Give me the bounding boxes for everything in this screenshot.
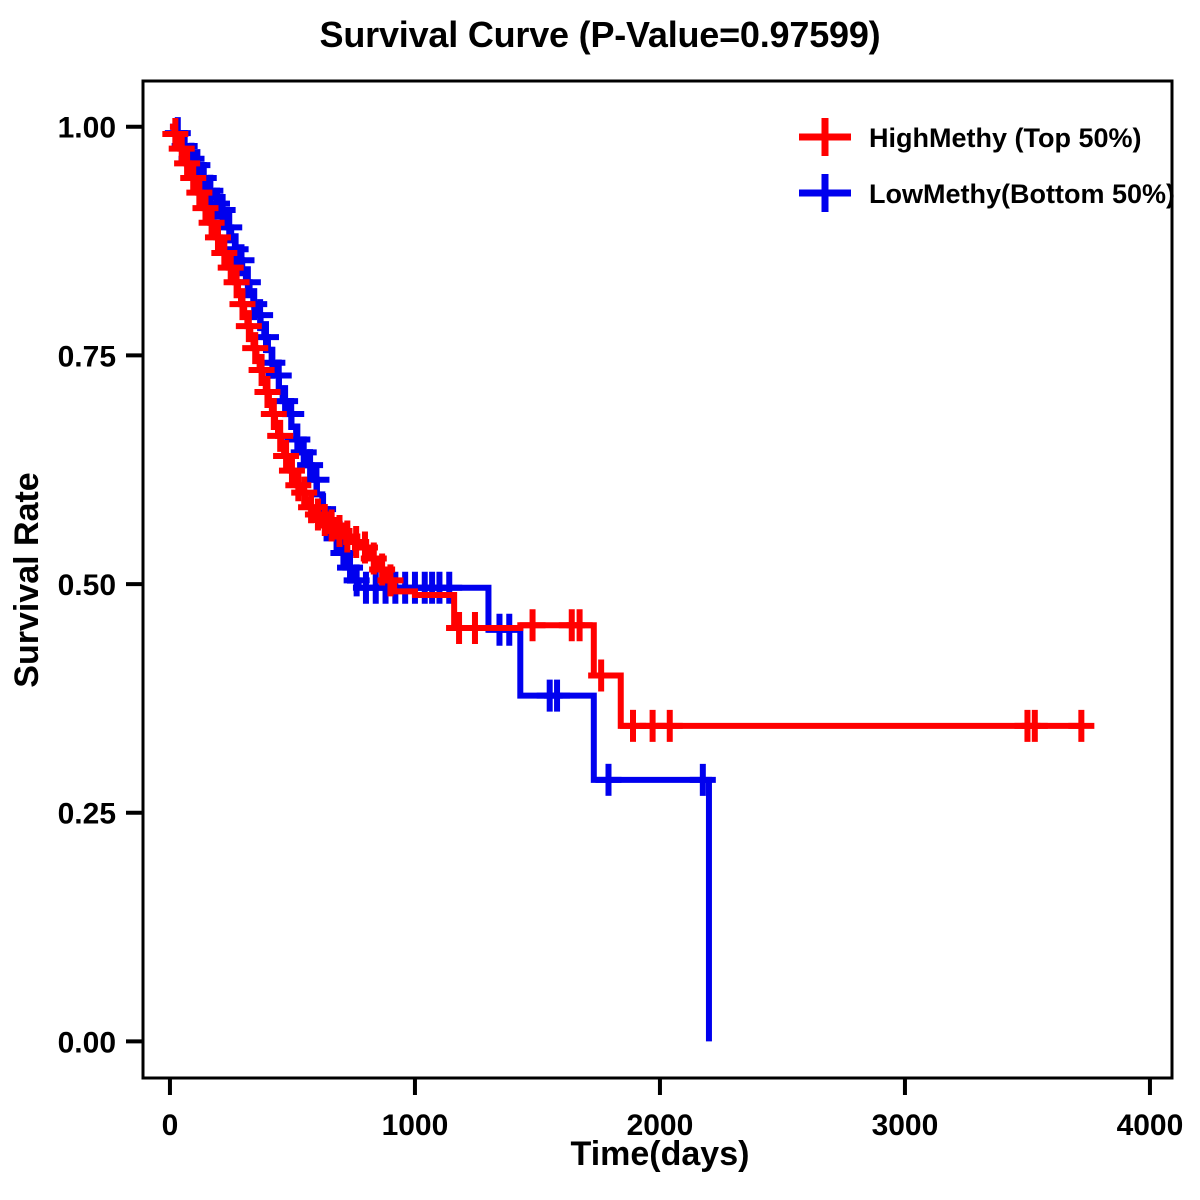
plot-frame: [143, 81, 1172, 1078]
x-axis: 01000200030004000: [162, 1078, 1184, 1142]
legend-label: LowMethy(Bottom 50%): [869, 179, 1175, 209]
y-axis: 0.000.250.500.751.00: [58, 112, 143, 1060]
y-tick-label: 0.50: [58, 569, 116, 602]
x-tick-label: 1000: [382, 1109, 449, 1142]
y-tick-label: 0.00: [58, 1026, 116, 1059]
legend-item[interactable]: HighMethy (Top 50%): [799, 118, 1142, 156]
x-tick-label: 4000: [1117, 1109, 1184, 1142]
y-tick-label: 0.25: [58, 798, 116, 831]
series-high-methy: [162, 118, 1094, 742]
x-axis-title: Time(days): [571, 1135, 750, 1173]
legend-item[interactable]: LowMethy(Bottom 50%): [799, 174, 1175, 212]
y-axis-title: Survival Rate: [8, 472, 46, 687]
survival-plot: 01000200030004000 0.000.250.500.751.00 T…: [0, 0, 1200, 1200]
x-tick-label: 0: [162, 1109, 179, 1142]
series-low-methy: [165, 117, 716, 1041]
legend[interactable]: HighMethy (Top 50%)LowMethy(Bottom 50%): [799, 118, 1175, 212]
y-tick-label: 0.75: [58, 340, 116, 373]
series-layer: [162, 117, 1094, 1041]
step-line: [170, 127, 1081, 726]
y-tick-label: 1.00: [58, 112, 116, 145]
x-tick-label: 3000: [872, 1109, 939, 1142]
survival-curve-figure: Survival Curve (P-Value=0.97599) 0100020…: [0, 0, 1200, 1200]
legend-label: HighMethy (Top 50%): [869, 123, 1142, 153]
